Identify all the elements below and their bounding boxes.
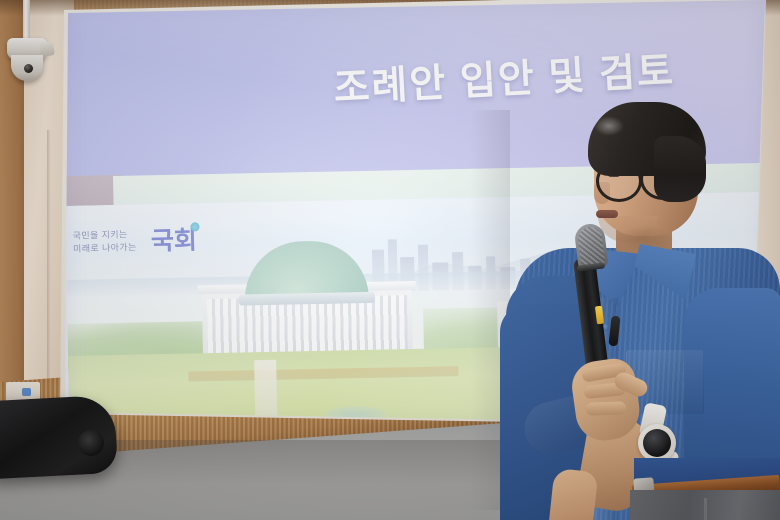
speaker-cone-icon xyxy=(78,430,104,456)
logo-dot-icon xyxy=(190,222,199,231)
logo-tagline-line2: 미래로 나아가는 xyxy=(73,240,157,255)
presenter-finger xyxy=(586,401,626,415)
trouser-crease xyxy=(704,498,707,520)
wall-outlet-socket-icon xyxy=(22,388,31,396)
presenter-hair-highlight xyxy=(594,116,624,136)
assembly-logo: 국민을 지키는 미래로 나아가는 국회 xyxy=(72,222,205,270)
presenter-mouth xyxy=(596,210,618,218)
logo-tagline: 국민을 지키는 미래로 나아가는 xyxy=(73,228,158,256)
smartwatch-face xyxy=(643,429,671,457)
screenshot-root: 조례안 입안 및 검토 강인태 xyxy=(0,0,780,520)
presenter xyxy=(498,98,780,520)
presenter-hair-side xyxy=(654,136,706,202)
